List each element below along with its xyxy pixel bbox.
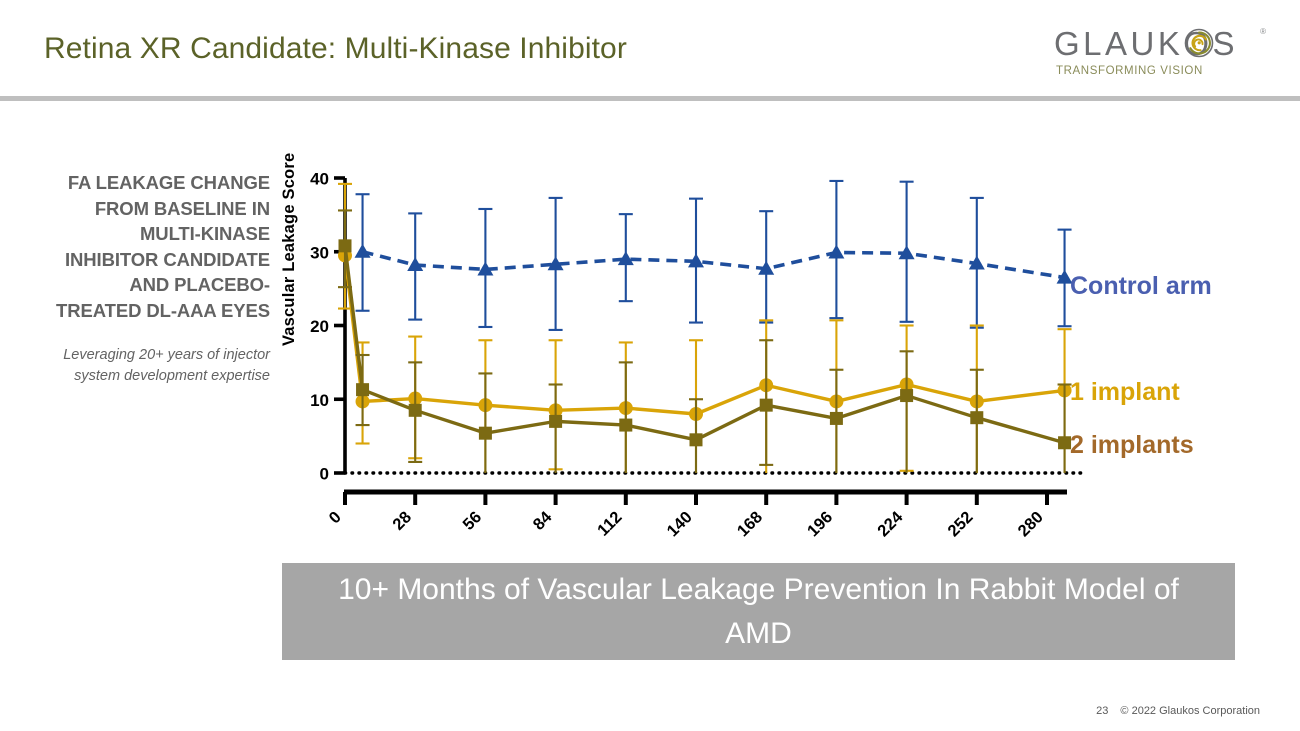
legend-item-one-implant: 1 implant bbox=[1070, 378, 1180, 407]
data-point-square bbox=[830, 412, 843, 425]
x-axis-tick-label: 280 bbox=[1015, 508, 1047, 540]
page-number: 23 bbox=[1096, 705, 1108, 717]
x-axis-tick-label: 252 bbox=[944, 508, 976, 540]
legend-item-control-arm: Control arm bbox=[1070, 272, 1212, 301]
vascular-leakage-chart: Vascular Leakage Score 01020304002856841… bbox=[282, 150, 1292, 560]
data-point-square bbox=[356, 383, 369, 396]
caption-text: 10+ Months of Vascular Leakage Preventio… bbox=[282, 568, 1235, 655]
spiral-icon bbox=[1184, 28, 1214, 58]
registered-trademark-icon: ® bbox=[1260, 27, 1266, 36]
series-line bbox=[345, 255, 1065, 414]
left-subtext: Leveraging 20+ years of injector system … bbox=[55, 345, 270, 387]
data-point-square bbox=[549, 415, 562, 428]
x-axis-tick-label: 56 bbox=[460, 508, 486, 534]
chart-canvas: 0102030400285684112140168196224252280 bbox=[282, 150, 1292, 560]
series-control-arm bbox=[355, 181, 1073, 330]
x-axis-tick-label: 28 bbox=[389, 508, 415, 534]
series-2-implants bbox=[338, 210, 1072, 473]
y-axis-tick-label: 40 bbox=[310, 170, 329, 189]
data-point-square bbox=[479, 427, 492, 440]
glaukos-logo: GLAUKOS ® TRANSFORMING VISION bbox=[1054, 25, 1264, 87]
data-point-square bbox=[760, 399, 773, 412]
data-point-square bbox=[409, 404, 422, 417]
series-line bbox=[363, 252, 1065, 278]
x-axis-tick-label: 84 bbox=[530, 508, 556, 534]
left-description-column: FA LEAKAGE CHANGE FROM BASELINE IN MULTI… bbox=[55, 170, 270, 387]
legend-item-two-implants: 2 implants bbox=[1070, 431, 1194, 460]
x-axis-tick-label: 196 bbox=[804, 508, 836, 540]
caption-banner: 10+ Months of Vascular Leakage Preventio… bbox=[282, 563, 1235, 660]
data-point-triangle bbox=[828, 244, 844, 258]
data-point-square bbox=[619, 419, 632, 432]
x-axis-tick-label: 140 bbox=[664, 508, 696, 540]
x-axis-tick-label: 0 bbox=[326, 508, 345, 527]
y-axis-tick-label: 10 bbox=[310, 391, 329, 410]
data-point-square bbox=[339, 239, 352, 252]
series-line bbox=[345, 246, 1065, 443]
series-1-implant bbox=[338, 184, 1072, 473]
data-point-square bbox=[690, 433, 703, 446]
slide-header: Retina XR Candidate: Multi-Kinase Inhibi… bbox=[0, 0, 1300, 100]
y-axis-title: Vascular Leakage Score bbox=[280, 153, 299, 346]
y-axis-tick-label: 0 bbox=[320, 465, 329, 484]
data-point-square bbox=[970, 411, 983, 424]
x-axis-tick-label: 168 bbox=[734, 508, 766, 540]
left-heading: FA LEAKAGE CHANGE FROM BASELINE IN MULTI… bbox=[55, 170, 270, 323]
copyright-text: © 2022 Glaukos Corporation bbox=[1120, 705, 1260, 717]
y-axis-tick-label: 20 bbox=[310, 317, 329, 336]
data-point-square bbox=[900, 389, 913, 402]
error-bars bbox=[356, 181, 1072, 330]
y-axis-tick-label: 30 bbox=[310, 243, 329, 262]
slide-footer: 23 © 2022 Glaukos Corporation bbox=[1096, 705, 1260, 717]
logo-tagline: TRANSFORMING VISION bbox=[1056, 65, 1203, 77]
data-point-triangle bbox=[355, 244, 371, 258]
error-bars bbox=[338, 184, 1072, 473]
x-axis-tick-label: 112 bbox=[594, 508, 626, 540]
header-divider bbox=[0, 96, 1300, 101]
page-title: Retina XR Candidate: Multi-Kinase Inhibi… bbox=[44, 32, 627, 66]
x-axis-tick-label: 224 bbox=[874, 508, 907, 541]
